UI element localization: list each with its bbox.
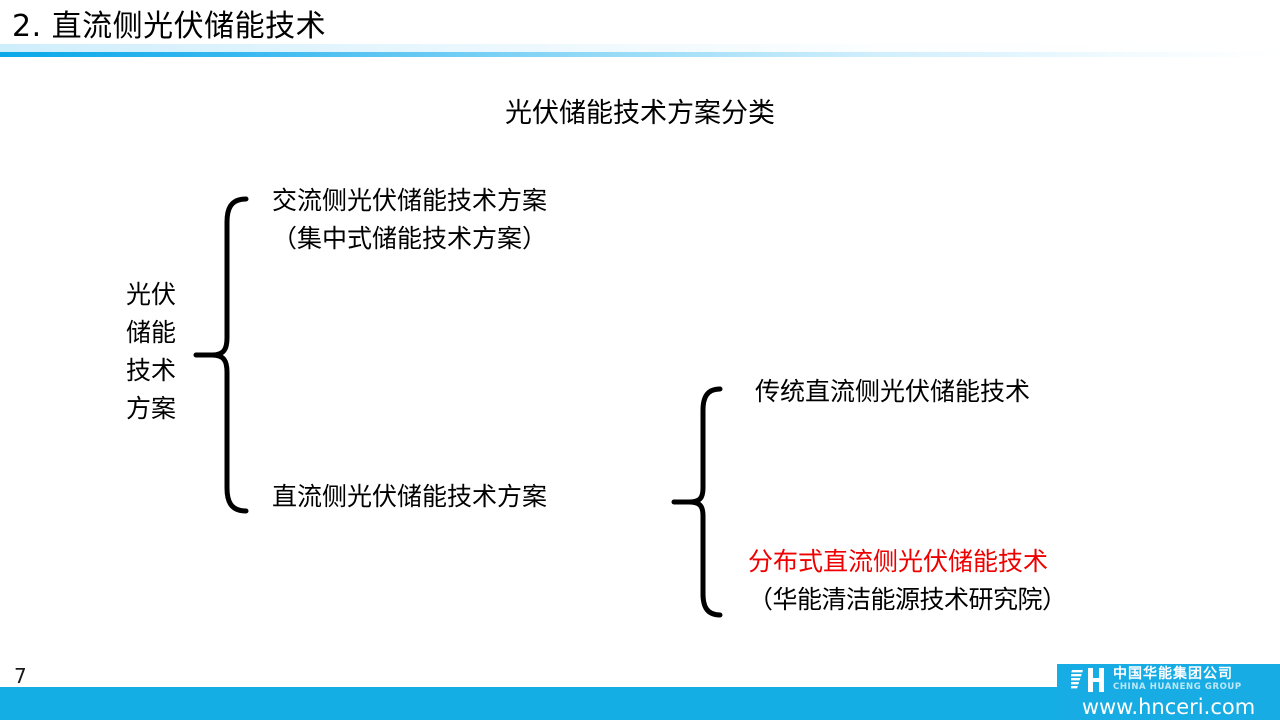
root-node-label: 光伏 储能 技术 方案 [106, 276, 196, 428]
branch-ac-line-1: 交流侧光伏储能技术方案 [272, 182, 547, 220]
slide-canvas: 2. 直流侧光伏储能技术 光伏储能技术方案分类 光伏 储能 技术 方案 交流侧光… [0, 0, 1280, 720]
branch-ac-line-2: （集中式储能技术方案） [272, 220, 547, 258]
diagram-heading: 光伏储能技术方案分类 [0, 96, 1280, 132]
footer-logo-block: 中国华能集团公司 CHINA HUANENG GROUP www.hnceri.… [1057, 664, 1280, 720]
brand-logo-text: 中国华能集团公司 CHINA HUANENG GROUP [1113, 667, 1242, 693]
title-divider [0, 52, 1280, 57]
root-label-line-1: 光伏 [106, 276, 196, 314]
root-label-line-3: 技术 [106, 352, 196, 390]
sub-branch-traditional-line-1: 传统直流侧光伏储能技术 [755, 373, 1030, 411]
footer-website-url: www.hnceri.com [1057, 694, 1280, 720]
page-title: 2. 直流侧光伏储能技术 [12, 7, 326, 47]
root-label-line-2: 储能 [106, 314, 196, 352]
sub-brace-icon [674, 386, 722, 618]
brand-logo: 中国华能集团公司 CHINA HUANENG GROUP [1071, 667, 1242, 693]
branch-dc-line-1: 直流侧光伏储能技术方案 [272, 478, 547, 516]
sub-branch-distributed-line-1: 分布式直流侧光伏储能技术 [748, 543, 1067, 581]
main-brace-icon [196, 196, 248, 514]
root-label-line-4: 方案 [106, 390, 196, 428]
sub-branch-distributed-line-2: （华能清洁能源技术研究院） [748, 581, 1067, 619]
brand-name-cn: 中国华能集团公司 [1113, 667, 1242, 682]
sub-branch-node-distributed: 分布式直流侧光伏储能技术 （华能清洁能源技术研究院） [748, 543, 1067, 619]
page-number: 7 [14, 664, 27, 688]
branch-node-ac: 交流侧光伏储能技术方案 （集中式储能技术方案） [272, 182, 547, 258]
branch-node-dc: 直流侧光伏储能技术方案 [272, 478, 547, 516]
brand-name-en: CHINA HUANENG GROUP [1113, 682, 1242, 693]
sub-branch-node-traditional: 传统直流侧光伏储能技术 [755, 373, 1030, 411]
huaneng-h-logo-icon [1071, 667, 1105, 693]
